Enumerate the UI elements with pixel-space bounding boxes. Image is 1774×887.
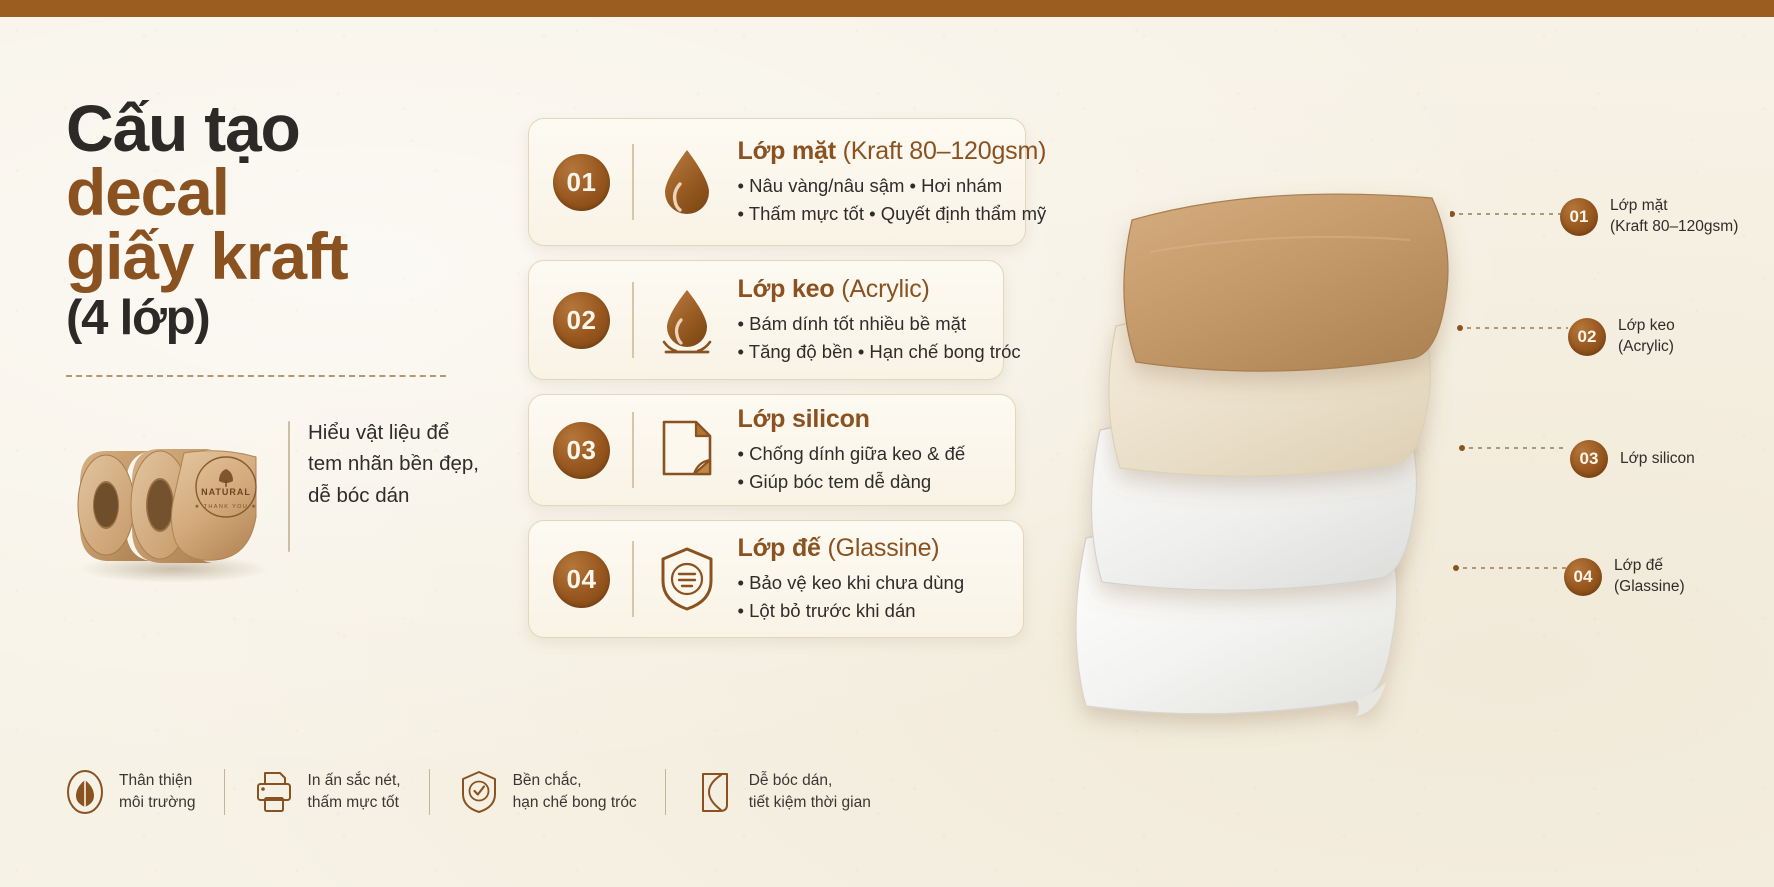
card-text-02: Lớp keo (Acrylic) • Bám dính tốt nhiều b… <box>738 275 1021 365</box>
feature-line-1: Thân thiện <box>119 770 196 792</box>
promo-divider <box>288 421 290 552</box>
card-title-sub-04: (Glassine) <box>828 534 940 562</box>
callout-02[interactable]: 02 Lớp keo (Acrylic) <box>1568 316 1675 358</box>
card-title-01: Lớp mặt (Kraft 80–120gsm) <box>738 137 1047 166</box>
callout-04[interactable]: 04 Lớp đế (Glassine) <box>1564 556 1685 598</box>
callout-line-1: Lớp silicon <box>1620 449 1695 470</box>
callout-01[interactable]: 01 Lớp mặt (Kraft 80–120gsm) <box>1560 196 1738 238</box>
card-bullet: • Bảo vệ keo khi chưa dùng <box>738 569 965 596</box>
title-line-4: (4 lớp) <box>66 295 536 343</box>
card-title-sub-02: (Acrylic) <box>841 275 929 303</box>
card-divider <box>632 541 634 617</box>
layer-card-list: 01 Lớp mặt <box>528 118 1026 652</box>
page-title: Cấu tạo decal giấy kraft (4 lớp) <box>66 96 536 343</box>
card-badge-02: 02 <box>553 292 610 349</box>
callout-list: 01 Lớp mặt (Kraft 80–120gsm) 02 Lớp keo … <box>1560 120 1774 720</box>
card-bullet: • Tăng độ bền • Hạn chế bong tróc <box>738 338 1021 365</box>
callout-line-2: (Glassine) <box>1614 577 1685 598</box>
callout-badge-04: 04 <box>1564 558 1602 596</box>
card-bullets-01: • Nâu vàng/nâu sậm • Hơi nhám • Thấm mực… <box>738 172 1047 227</box>
leaf-icon <box>64 769 106 815</box>
card-title-02: Lớp keo (Acrylic) <box>738 275 1021 304</box>
callout-badge-01: 01 <box>1560 198 1598 236</box>
feature-line-2: thấm mực tốt <box>308 792 401 814</box>
card-text-01: Lớp mặt (Kraft 80–120gsm) • Nâu vàng/nâu… <box>738 137 1047 227</box>
shield-check-icon <box>458 769 500 815</box>
feature-durable-text: Bền chắc, hạn chế bong tróc <box>513 770 637 815</box>
dashed-divider <box>66 375 446 377</box>
callout-line-2: (Kraft 80–120gsm) <box>1610 217 1738 238</box>
feature-eco[interactable]: Thân thiện môi trường <box>64 769 196 815</box>
callout-label-04: Lớp đế (Glassine) <box>1614 556 1685 598</box>
feature-line-1: Bền chắc, <box>513 770 637 792</box>
card-title-main-03: Lớp silicon <box>738 405 870 433</box>
layer-card-02[interactable]: 02 Lớp keo (Acrylic) • Bám dính tốt nhiề… <box>528 260 1004 380</box>
card-badge-01: 01 <box>553 154 610 211</box>
callout-line-1: Lớp đế <box>1614 556 1685 577</box>
card-bullet: • Chống dính giữa keo & đế <box>738 440 966 467</box>
promo-text: Hiểu vật liệu để tem nhãn bền đẹp, dễ bó… <box>308 407 479 512</box>
svg-text:★ THANK YOU ★: ★ THANK YOU ★ <box>194 503 257 510</box>
card-title-main-04: Lớp đế <box>738 534 821 562</box>
card-title-03: Lớp silicon <box>738 405 966 434</box>
feature-print-text: In ấn sắc nét, thấm mực tốt <box>308 770 401 815</box>
card-badge-04: 04 <box>553 551 610 608</box>
card-text-03: Lớp silicon • Chống dính giữa keo & đế •… <box>738 405 966 495</box>
card-bullet: • Nâu vàng/nâu sậm • Hơi nhám <box>738 172 1047 199</box>
title-line-1: Cấu tạo <box>66 96 536 160</box>
drop-icon <box>654 146 720 218</box>
top-accent-bar <box>0 0 1774 17</box>
card-divider <box>632 412 634 488</box>
card-title-04: Lớp đế (Glassine) <box>738 534 965 563</box>
infographic-canvas: Cấu tạo decal giấy kraft (4 lớp) <box>0 0 1774 887</box>
callout-label-02: Lớp keo (Acrylic) <box>1618 316 1675 358</box>
callout-line-2: (Acrylic) <box>1618 337 1675 358</box>
feature-line-2: tiết kiệm thời gian <box>749 792 871 814</box>
callout-line-1: Lớp keo <box>1618 316 1675 337</box>
callout-line-1: Lớp mặt <box>1610 196 1738 217</box>
callout-badge-02: 02 <box>1568 318 1606 356</box>
feature-peel[interactable]: Dễ bóc dán, tiết kiệm thời gian <box>694 769 871 815</box>
promo-block: NATURAL ★ THANK YOU ★ Hiểu vật liệu để t… <box>66 407 536 582</box>
promo-line-2: tem nhãn bền đẹp, <box>308 448 479 480</box>
feature-peel-text: Dễ bóc dán, tiết kiệm thời gian <box>749 770 871 815</box>
callout-label-03: Lớp silicon <box>1620 449 1695 470</box>
callout-badge-03: 03 <box>1570 440 1608 478</box>
card-title-main-02: Lớp keo <box>738 275 835 303</box>
layer-card-04[interactable]: 04 Lớp đế (Glassine) • Bảo vệ keo khi ch… <box>528 520 1024 638</box>
feature-eco-text: Thân thiện môi trường <box>119 770 196 815</box>
peeling-page-icon <box>654 414 720 486</box>
adhesive-drop-icon <box>654 284 720 356</box>
layer-card-03[interactable]: 03 Lớp silicon • Chống dính giữa keo & đ… <box>528 394 1016 506</box>
layer-card-01[interactable]: 01 Lớp mặt <box>528 118 1026 246</box>
shield-icon <box>654 543 720 615</box>
feature-line-2: hạn chế bong tróc <box>513 792 637 814</box>
printer-icon <box>253 769 295 815</box>
promo-line-1: Hiểu vật liệu để <box>308 417 479 449</box>
peel-sticker-icon <box>694 769 736 815</box>
feature-durable[interactable]: Bền chắc, hạn chế bong tróc <box>458 769 637 815</box>
card-bullets-04: • Bảo vệ keo khi chưa dùng • Lột bỏ trướ… <box>738 569 965 624</box>
feature-line-2: môi trường <box>119 792 196 814</box>
feature-separator <box>429 769 430 815</box>
card-bullets-03: • Chống dính giữa keo & đế • Giúp bóc te… <box>738 440 966 495</box>
exploded-layer-stack <box>1020 100 1500 760</box>
feature-strip: Thân thiện môi trường In ấn sắc nét, thấ… <box>64 769 871 815</box>
card-bullet: • Lột bỏ trước khi dán <box>738 597 965 624</box>
left-column: Cấu tạo decal giấy kraft (4 lớp) <box>66 96 536 582</box>
feature-line-1: Dễ bóc dán, <box>749 770 871 792</box>
card-text-04: Lớp đế (Glassine) • Bảo vệ keo khi chưa … <box>738 534 965 624</box>
svg-text:NATURAL: NATURAL <box>201 487 251 497</box>
feature-line-1: In ấn sắc nét, <box>308 770 401 792</box>
callout-label-01: Lớp mặt (Kraft 80–120gsm) <box>1610 196 1738 238</box>
kraft-roll-image: NATURAL ★ THANK YOU ★ <box>66 407 286 582</box>
feature-separator <box>665 769 666 815</box>
card-badge-03: 03 <box>553 422 610 479</box>
card-bullets-02: • Bám dính tốt nhiều bề mặt • Tăng độ bề… <box>738 310 1021 365</box>
card-title-sub-01: (Kraft 80–120gsm) <box>843 137 1047 165</box>
card-bullet: • Bám dính tốt nhiều bề mặt <box>738 310 1021 337</box>
feature-separator <box>224 769 225 815</box>
card-bullet: • Thấm mực tốt • Quyết định thẩm mỹ <box>738 200 1047 227</box>
feature-print[interactable]: In ấn sắc nét, thấm mực tốt <box>253 769 401 815</box>
callout-03[interactable]: 03 Lớp silicon <box>1570 440 1695 478</box>
card-bullet: • Giúp bóc tem dễ dàng <box>738 468 966 495</box>
title-line-2: decal <box>66 160 536 224</box>
card-divider <box>632 144 634 220</box>
sheet-kraft <box>1124 194 1448 371</box>
card-divider <box>632 282 634 358</box>
card-title-main-01: Lớp mặt <box>738 137 836 165</box>
promo-line-3: dễ bóc dán <box>308 480 479 512</box>
title-line-3: giấy kraft <box>66 224 536 288</box>
